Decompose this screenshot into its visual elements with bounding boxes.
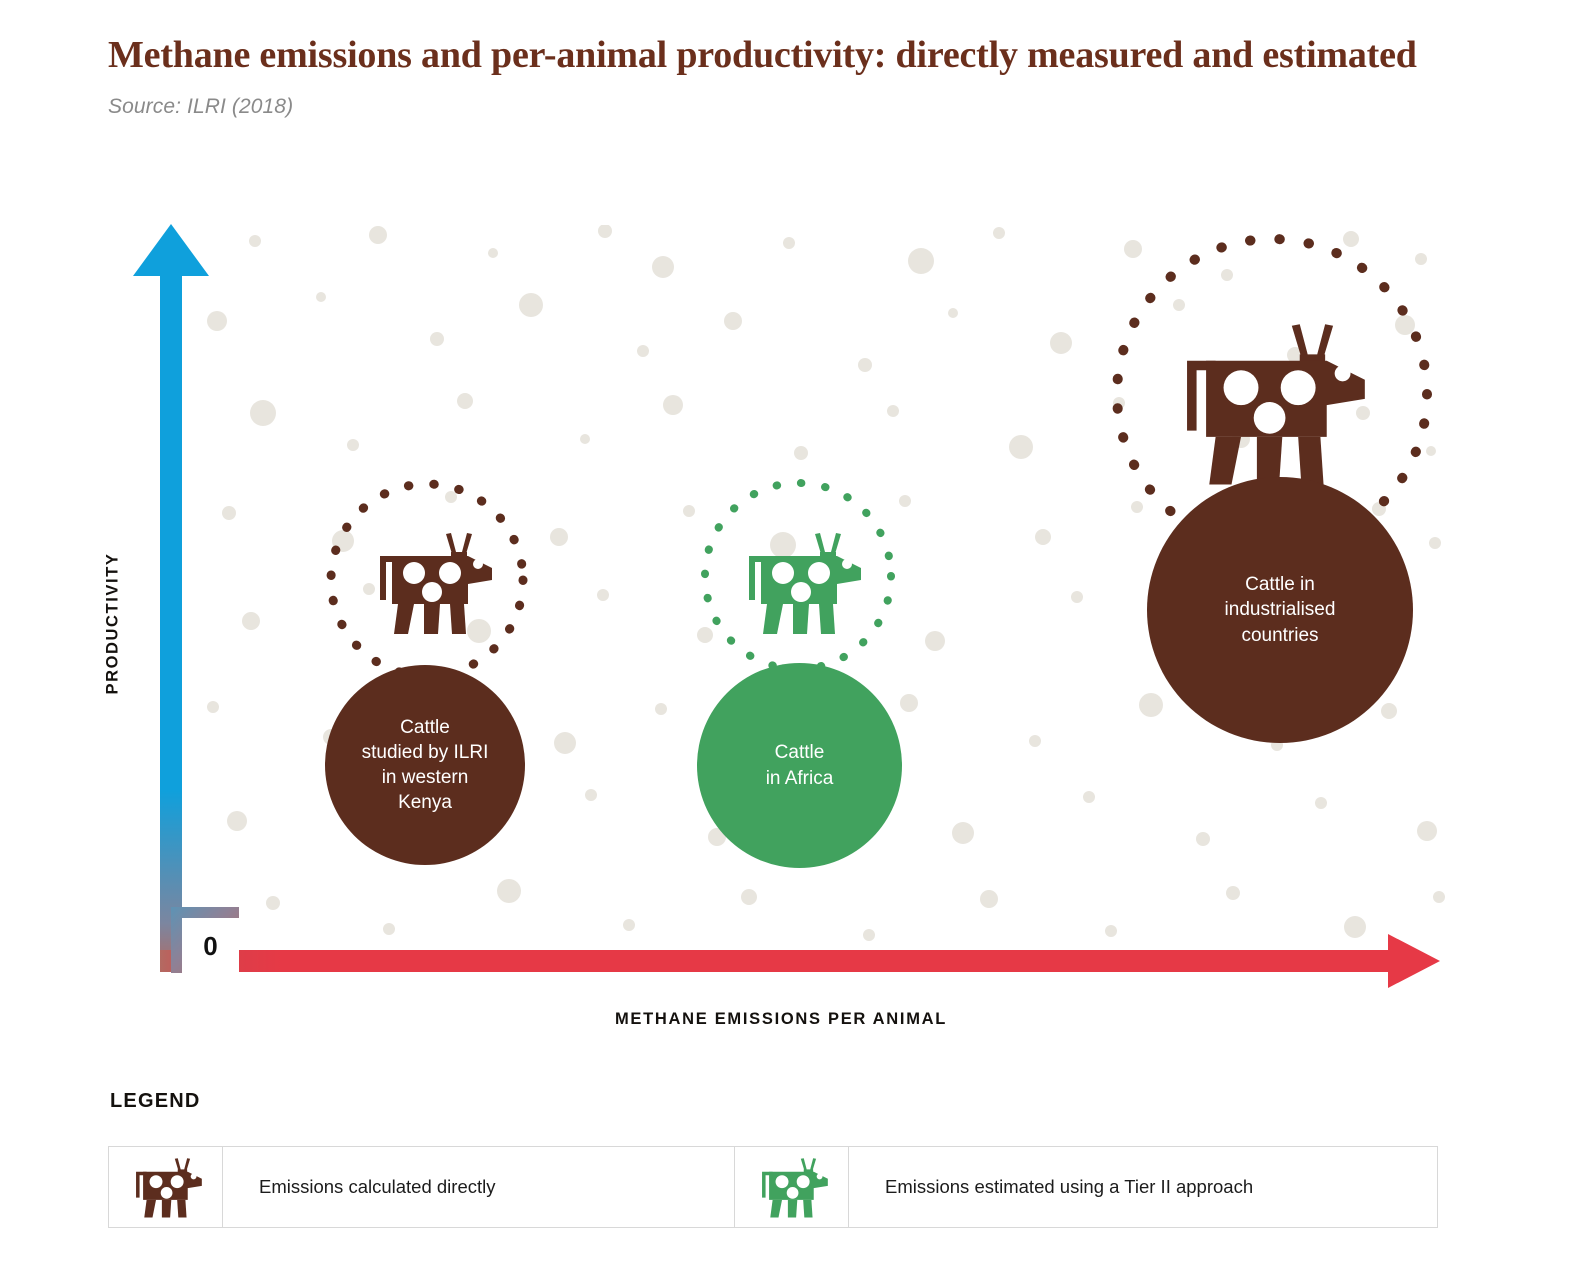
bubble-label-kenya: Cattle studied by ILRI in western Kenya: [352, 715, 499, 815]
source-caption: Source: ILRI (2018): [108, 95, 1468, 119]
page-title: Methane emissions and per-animal product…: [108, 34, 1448, 77]
data-point-kenya[interactable]: Cattle studied by ILRI in western Kenya: [325, 470, 535, 870]
cow-icon-brown: [129, 1155, 203, 1219]
bubble-label-africa: Cattle in Africa: [756, 740, 844, 790]
x-axis-title: METHANE EMISSIONS PER ANIMAL: [170, 1010, 1392, 1029]
bubble-kenya[interactable]: Cattle studied by ILRI in western Kenya: [325, 665, 525, 865]
data-point-industrialised[interactable]: Cattle in industrialised countries: [1100, 222, 1440, 742]
cow-icon-green: [755, 1155, 829, 1219]
legend-label-tier2: Emissions estimated using a Tier II appr…: [849, 1147, 1437, 1227]
cow-icon-brown: [368, 528, 494, 636]
legend-label-direct: Emissions calculated directly: [223, 1147, 735, 1227]
bubble-label-industrialised: Cattle in industrialised countries: [1215, 572, 1346, 647]
cow-icon-brown-large: [1168, 316, 1368, 488]
legend-heading: LEGEND: [110, 1090, 201, 1113]
legend-icon-cell-direct: [109, 1147, 223, 1227]
legend-icon-cell-tier2: [735, 1147, 849, 1227]
cow-icon-green: [737, 528, 863, 636]
legend: Emissions calculated directly Emissions …: [108, 1146, 1438, 1228]
data-point-africa[interactable]: Cattle in Africa: [692, 470, 907, 870]
y-axis-line: [160, 272, 182, 972]
y-axis-title: PRODUCTIVITY: [104, 504, 123, 744]
header: Methane emissions and per-animal product…: [108, 34, 1468, 119]
bubble-industrialised[interactable]: Cattle in industrialised countries: [1147, 477, 1413, 743]
bubble-africa[interactable]: Cattle in Africa: [697, 663, 902, 868]
